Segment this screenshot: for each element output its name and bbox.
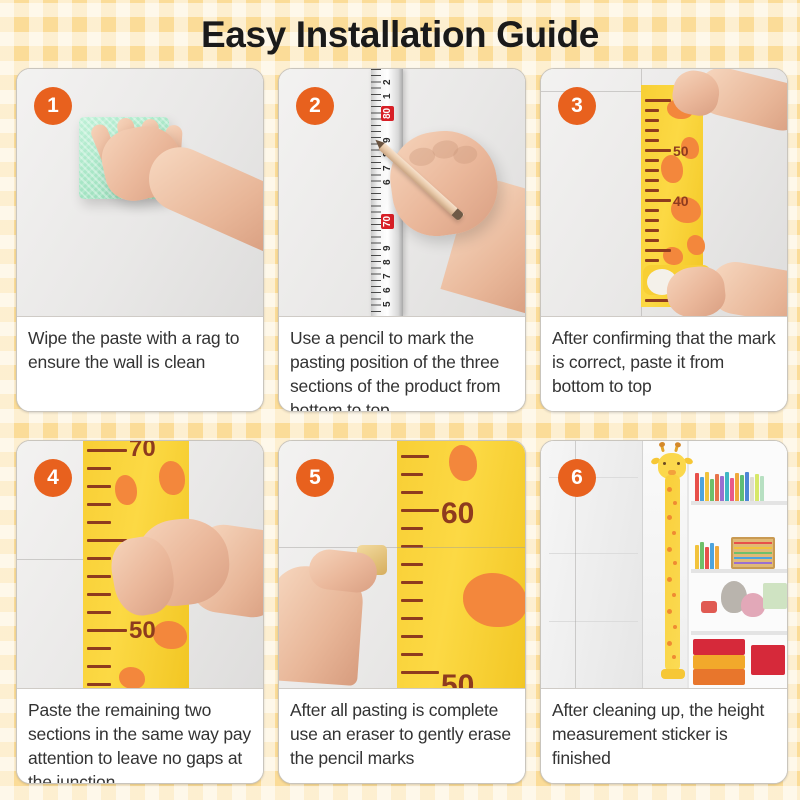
step-4-photo: 70 50 4 [17, 441, 263, 689]
steps-grid: 1 Wipe the paste with a rag to ensure th… [16, 68, 788, 784]
step-badge-6: 6 [558, 459, 596, 497]
step-badge-5: 5 [296, 459, 334, 497]
ruler-number-70: 70 [129, 441, 156, 463]
tape-ticks [371, 69, 381, 317]
step-2-photo: 2 1 80 9 8 7 6 70 9 8 7 6 5 [279, 69, 525, 317]
step-5-photo: 60 50 5 [279, 441, 525, 689]
ruler-number-60: 60 [441, 497, 474, 531]
giraffe-height-chart [641, 441, 703, 689]
step-caption-4: Paste the remaining two sections in the … [17, 690, 263, 783]
step-badge-4: 4 [34, 459, 72, 497]
giraffe-horn-right [674, 445, 679, 453]
step-caption-3: After confirming that the mark is correc… [541, 318, 787, 411]
step-caption-2: Use a pencil to mark the pasting positio… [279, 318, 525, 411]
ruler-number-40: 40 [673, 193, 689, 209]
giraffe-ruler-strip: 60 50 [397, 441, 525, 689]
storage-bin-red-2 [751, 645, 785, 675]
ruler-number-50: 50 [129, 617, 156, 645]
step-badge-2: 2 [296, 87, 334, 125]
ruler-number-50: 50 [441, 669, 474, 689]
step-card-6[interactable]: 6 After cleaning up, the height measurem… [540, 440, 788, 784]
step-1-photo: 1 [17, 69, 263, 317]
giraffe-feet [661, 669, 685, 679]
step-badge-3: 3 [558, 87, 596, 125]
book-row-top [695, 471, 764, 501]
step-caption-1: Wipe the paste with a rag to ensure the … [17, 318, 263, 411]
abacus-toy [731, 537, 775, 569]
ruler-number-50: 50 [673, 143, 689, 159]
step-6-photo: 6 [541, 441, 787, 689]
page-title: Easy Installation Guide [0, 12, 800, 58]
step-card-1[interactable]: 1 Wipe the paste with a rag to ensure th… [16, 68, 264, 412]
step-caption-5: After all pasting is complete use an era… [279, 690, 525, 783]
storage-basket [763, 583, 787, 609]
plush-doll [741, 593, 765, 617]
step-card-4[interactable]: 70 50 4 Paste the remaining two sections… [16, 440, 264, 784]
step-3-photo: 50 40 30 3 [541, 69, 787, 317]
step-caption-6: After cleaning up, the height measuremen… [541, 690, 787, 783]
giraffe-horn-left [660, 445, 665, 453]
step-card-2[interactable]: 2 1 80 9 8 7 6 70 9 8 7 6 5 [278, 68, 526, 412]
toy-car [701, 601, 717, 613]
step-badge-1: 1 [34, 87, 72, 125]
step-card-5[interactable]: 60 50 5 After all pasting is complete us… [278, 440, 526, 784]
step-card-3[interactable]: 50 40 30 3 After confirming that the mar… [540, 68, 788, 412]
